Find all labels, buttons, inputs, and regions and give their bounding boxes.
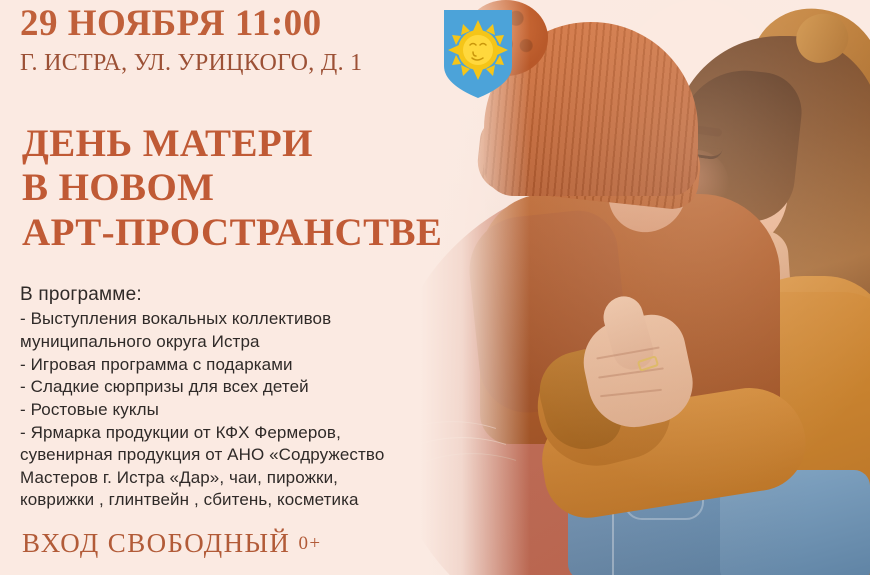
program-item: сувенирная продукция от АНО «Содружество [20, 444, 490, 467]
istra-coat-of-arms-icon [440, 8, 516, 100]
program-item: Мастеров г. Истра «Дар», чаи, пирожки, [20, 467, 490, 490]
title-line-3: АРТ-ПРОСТРАНСТВЕ [22, 211, 522, 255]
program-heading: В программе: [20, 282, 490, 307]
free-entry-label: ВХОД СВОБОДНЫЙ [22, 528, 290, 558]
text-content: 29 НОЯБРЯ 11:00 Г. ИСТРА, УЛ. УРИЦКОГО, … [0, 0, 520, 575]
program-item: муниципального округа Истра [20, 331, 490, 354]
page-title: ДЕНЬ МАТЕРИ В НОВОМ АРТ-ПРОСТРАНСТВЕ [22, 122, 522, 255]
program-item: - Ярмарка продукции от КФХ Фермеров, [20, 422, 490, 445]
event-date-time: 29 НОЯБРЯ 11:00 [20, 2, 322, 45]
program-section: В программе: - Выступления вокальных кол… [20, 282, 490, 512]
program-item: коврижки , глинтвейн , сбитень, косметик… [20, 489, 490, 512]
program-item: - Сладкие сюрпризы для всех детей [20, 376, 490, 399]
title-line-2: В НОВОМ [22, 166, 522, 210]
age-rating-badge: 0+ [299, 533, 322, 554]
poster: 29 НОЯБРЯ 11:00 Г. ИСТРА, УЛ. УРИЦКОГО, … [0, 0, 870, 575]
program-item: - Ростовые куклы [20, 399, 490, 422]
event-address: Г. ИСТРА, УЛ. УРИЦКОГО, Д. 1 [20, 50, 362, 77]
title-line-1: ДЕНЬ МАТЕРИ [22, 122, 522, 166]
program-item: - Выступления вокальных коллективов [20, 308, 490, 331]
free-entry-notice: ВХОД СВОБОДНЫЙ 0+ [22, 528, 322, 559]
program-item: - Игровая программа с подарками [20, 354, 490, 377]
